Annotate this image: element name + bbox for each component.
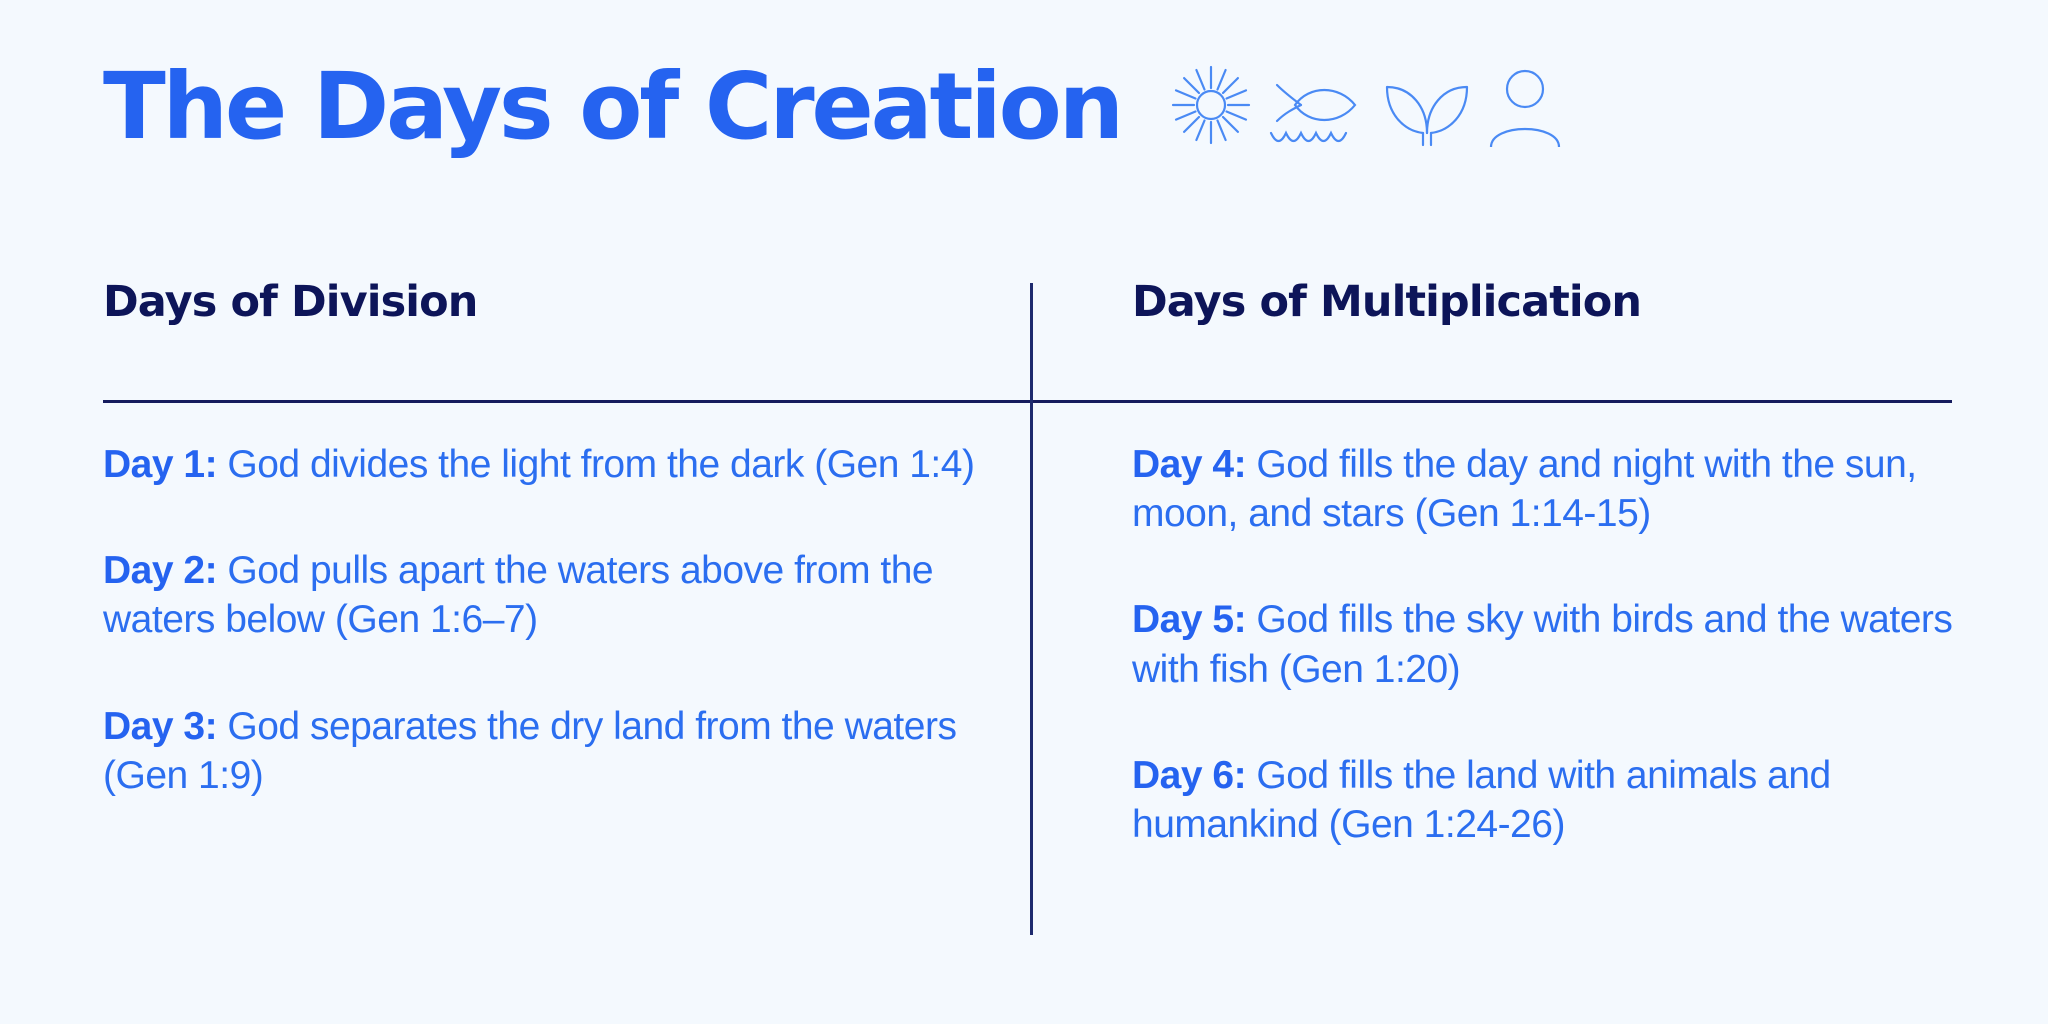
- column-heading-left: Days of Division: [103, 280, 1003, 325]
- day-label: Day 3:: [103, 705, 217, 748]
- list-item: Day 3: God separates the dry land from t…: [103, 702, 1003, 800]
- list-item: Day 6: God fills the land with animals a…: [1132, 751, 1992, 849]
- list-item: Day 1: God divides the light from the da…: [103, 440, 1003, 489]
- sun-icon: [1169, 63, 1253, 147]
- sprout-icon: [1381, 63, 1473, 147]
- day-description: God pulls apart the waters above from th…: [103, 549, 933, 641]
- header-icon-row: [1169, 63, 1563, 151]
- list-item: Day 5: God fills the sky with birds and …: [1132, 595, 1992, 693]
- column-heading-right: Days of Multiplication: [1132, 280, 1992, 325]
- entry-list-right: Day 4: God fills the day and night with …: [1132, 440, 1992, 849]
- day-description: God fills the day and night with the sun…: [1132, 443, 1917, 535]
- day-label: Day 4:: [1132, 443, 1246, 486]
- page-title: The Days of Creation: [103, 61, 1121, 153]
- column-days-of-division: Days of Division Day 1: God divides the …: [103, 280, 1003, 800]
- entry-list-left: Day 1: God divides the light from the da…: [103, 440, 1003, 800]
- day-description: God fills the sky with birds and the wat…: [1132, 598, 1952, 690]
- header: The Days of Creation: [103, 52, 1953, 162]
- day-label: Day 6:: [1132, 754, 1246, 797]
- creation-infographic: The Days of Creation: [0, 0, 2048, 1024]
- fish-waves-icon: [1267, 63, 1367, 147]
- column-days-of-multiplication: Days of Multiplication Day 4: God fills …: [1132, 280, 1992, 849]
- person-icon: [1487, 63, 1563, 147]
- day-label: Day 2:: [103, 549, 217, 592]
- day-label: Day 5:: [1132, 598, 1246, 641]
- list-item: Day 2: God pulls apart the waters above …: [103, 546, 1003, 644]
- vertical-divider: [1030, 283, 1033, 935]
- day-label: Day 1:: [103, 443, 217, 486]
- day-description: God divides the light from the dark (Gen…: [217, 443, 974, 486]
- day-description: God separates the dry land from the wate…: [103, 705, 956, 797]
- list-item: Day 4: God fills the day and night with …: [1132, 440, 1992, 538]
